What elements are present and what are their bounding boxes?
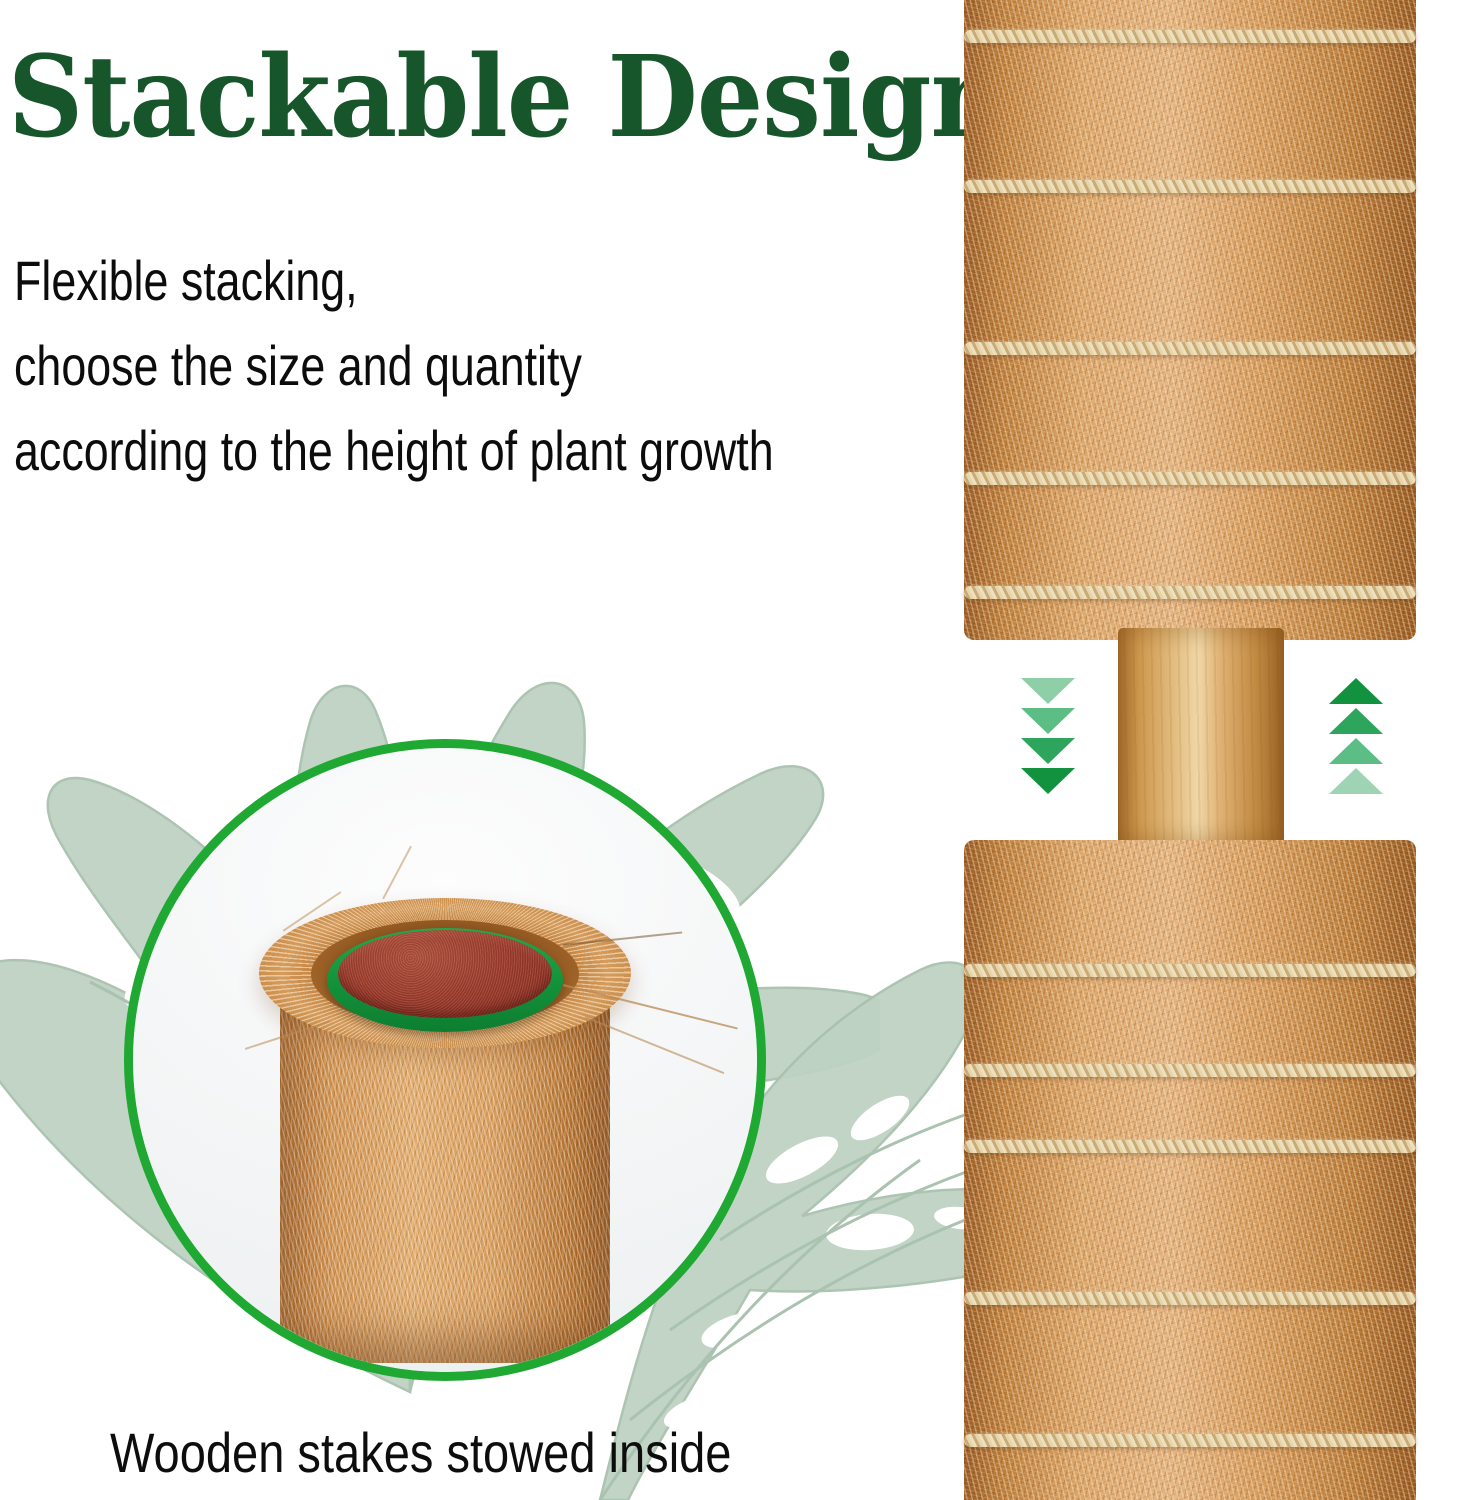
coir-moss-pole-upper [964,0,1416,640]
twine-wrap [964,30,1416,43]
chevron-up-icon [1329,678,1383,704]
inset-photo [133,748,757,1372]
chevron-up-icon [1329,738,1383,764]
chevron-down-icon [1021,708,1075,734]
twine-wrap [964,964,1416,977]
stack-down-arrows [1020,678,1076,798]
red-end-cap [338,930,552,1018]
description-line-2: choose the size and quantity [14,323,798,408]
chevron-up-icon [1329,768,1383,794]
twine-wrap [964,1140,1416,1153]
twine-wrap [964,472,1416,485]
description-line-3: according to the height of plant growth [14,408,798,493]
coir-stray-fiber [382,846,412,900]
wooden-dowel-connector [1118,628,1284,844]
twine-wrap [964,180,1416,193]
twine-wrap [964,1434,1416,1447]
product-photo-column [940,0,1461,1500]
chevron-up-icon [1329,708,1383,734]
twine-wrap [964,342,1416,355]
description-paragraph: Flexible stacking, choose the size and q… [14,238,798,493]
stack-up-arrows [1328,678,1384,798]
twine-wrap [964,586,1416,599]
chevron-down-icon [1021,678,1075,704]
coir-moss-pole-lower [964,840,1416,1500]
infographic-page: Stackable Design Flexible stacking, choo… [0,0,1461,1500]
wood-grain-texture [1118,628,1284,844]
chevron-down-icon [1021,738,1075,764]
page-title: Stackable Design [8,38,882,159]
description-line-1: Flexible stacking, [14,238,798,323]
inset-caption: Wooden stakes stowed inside [110,1418,799,1487]
twine-wrap [964,1292,1416,1305]
chevron-down-icon [1021,768,1075,794]
circular-detail-inset [124,739,766,1381]
twine-wrap [964,1064,1416,1077]
